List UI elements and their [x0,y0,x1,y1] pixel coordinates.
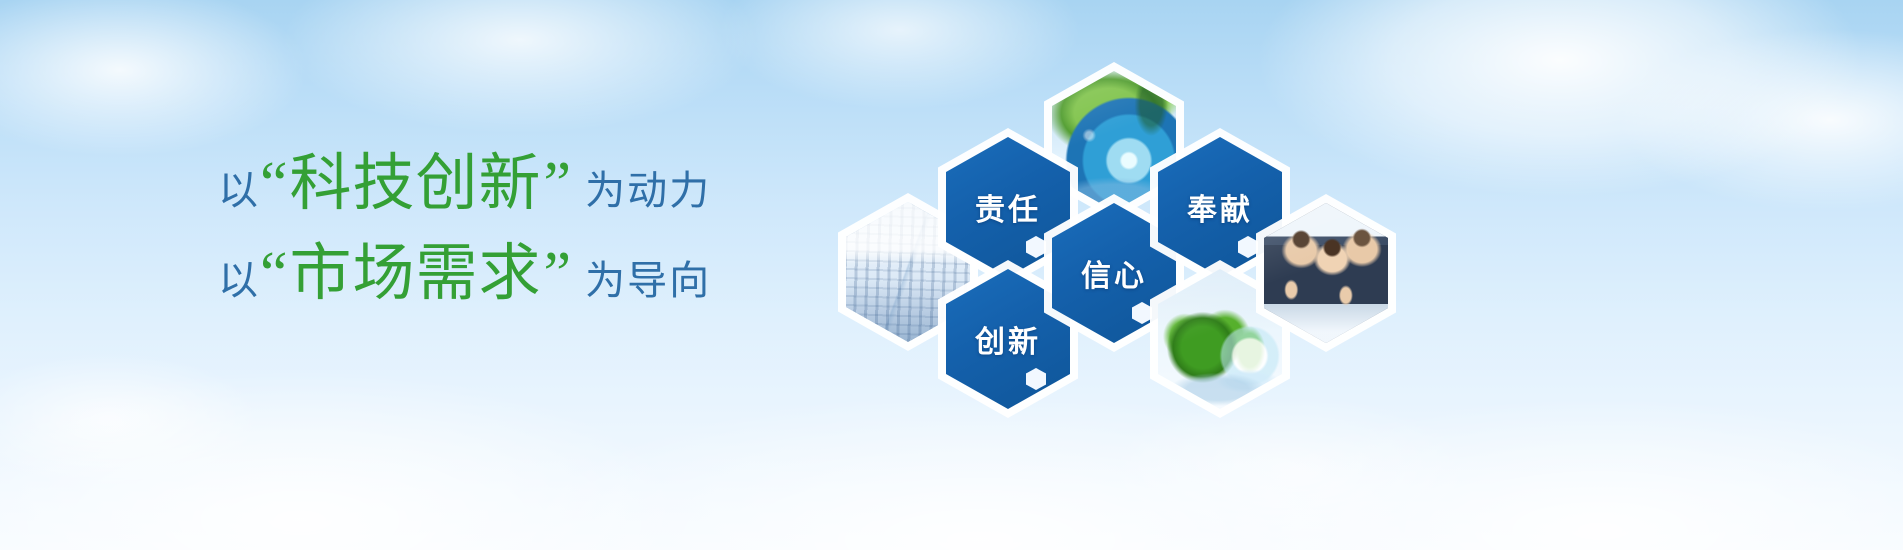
business-team-thumbsup-photo [1264,203,1388,343]
headline-1-quote-open: “ [260,149,288,220]
headline-1-prefix: 以 [218,158,260,216]
value-hex-label-dedication: 奉献 [1187,185,1253,229]
headline-2-prefix: 以 [218,248,260,306]
photo-gloss-overlay [1264,203,1388,343]
headline-1-emphasis: 科技创新 [290,132,542,222]
value-hex-label-innovation: 创新 [975,317,1041,361]
value-hex-label-responsibility: 责任 [975,185,1041,229]
headline-2-quote-close: ” [544,239,572,310]
headline-2-suffix: 为导向 [585,248,711,306]
headline-1-quote-close: ” [544,149,572,220]
headline-line-2: 以 “ 市场需求 ” 为导向 [218,222,838,312]
headline-line-1: 以 “ 科技创新 ” 为动力 [218,132,838,222]
hexagon-cluster: 责任 创新 信心 奉献 [800,48,1420,448]
value-hex-label-confidence: 信心 [1081,251,1147,295]
company-values-banner: 以 “ 科技创新 ” 为动力 以 “ 市场需求 ” 为导向 [0,0,1903,550]
headline-1-suffix: 为动力 [585,158,711,216]
headline-2-emphasis: 市场需求 [290,222,542,312]
headline-2-quote-open: “ [260,239,288,310]
headline-block: 以 “ 科技创新 ” 为动力 以 “ 市场需求 ” 为导向 [218,132,838,312]
